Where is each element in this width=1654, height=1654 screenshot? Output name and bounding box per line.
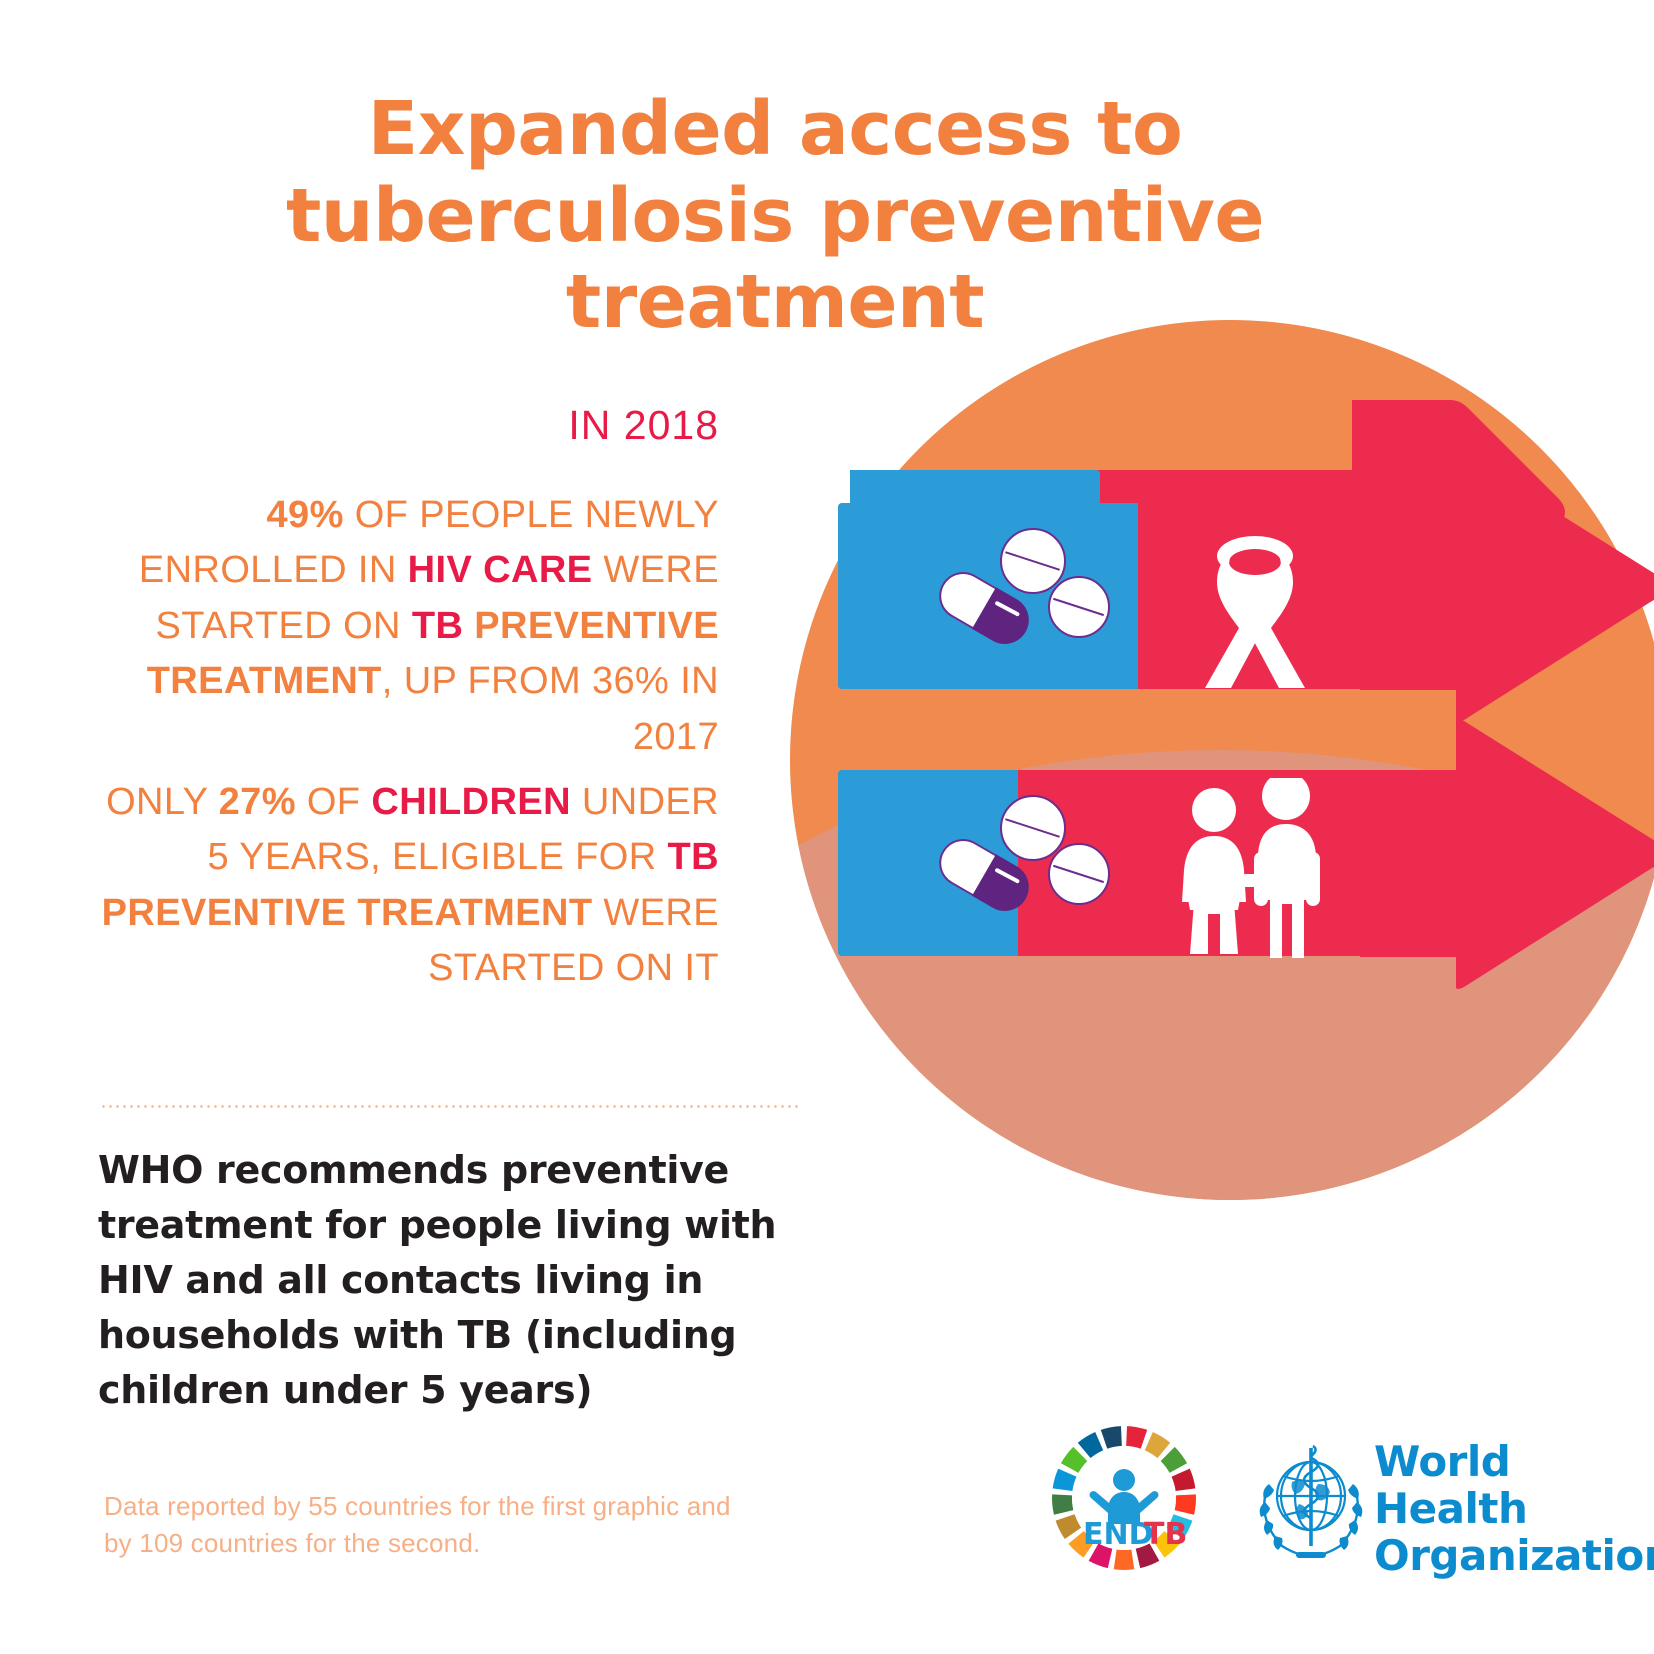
tablet-icon: [1048, 843, 1110, 905]
stat1-percent: 49%: [267, 494, 344, 536]
sdg-wheel-segment: [1171, 1469, 1195, 1491]
arrow2-head: [1360, 719, 1654, 1009]
section-divider: [100, 1105, 800, 1108]
who-logo: World Health Organization: [1252, 1426, 1582, 1566]
children-icon: [1168, 778, 1348, 978]
arrow2-pills-icon: [940, 795, 1110, 935]
sdg-wheel-segment: [1114, 1549, 1135, 1570]
sdg-wheel-segment: [1101, 1426, 1122, 1449]
sdg-wheel-segment: [1175, 1494, 1196, 1514]
stat2-tb: TB: [668, 836, 719, 878]
endtb-tb-text: TB: [1144, 1517, 1187, 1552]
end-tb-logo: END TB: [1038, 1412, 1210, 1584]
sdg-wheel-segment: [1053, 1469, 1077, 1491]
stat2-children: CHILDREN: [371, 781, 571, 823]
children-arrow-body: [838, 770, 1438, 956]
stat-block-children: ONLY 27% OF CHILDREN UNDER 5 YEARS, ELIG…: [79, 775, 719, 997]
year-label: IN 2018: [568, 402, 719, 449]
stat1-text3: , UP FROM 36% IN 2017: [382, 660, 719, 757]
who-emblem-icon: [1252, 1434, 1370, 1564]
stat1-tb: TB: [412, 605, 463, 647]
graphic-panel: [760, 300, 1654, 1310]
stat2-tpt: PREVENTIVE TREATMENT: [102, 892, 593, 934]
endtb-end-text: END: [1083, 1517, 1154, 1552]
who-name-text: World Health Organization: [1374, 1438, 1654, 1579]
stat2-text1: OF: [296, 781, 372, 823]
arrow1-head: [1360, 452, 1654, 742]
stat-block-hiv: 49% OF PEOPLE NEWLY ENROLLED IN HIV CARE…: [59, 488, 719, 765]
who-line2: Organization: [1374, 1532, 1654, 1579]
sdg-wheel-segment: [1126, 1426, 1147, 1449]
arrow1-pills-icon: [940, 528, 1110, 668]
stat2-only: ONLY: [106, 781, 219, 823]
sdg-wheel-segment: [1052, 1494, 1073, 1514]
stat1-hiv-care: HIV CARE: [408, 549, 593, 591]
aids-ribbon-icon: [1175, 510, 1335, 700]
data-source-footnote: Data reported by 55 countries for the fi…: [104, 1488, 754, 1562]
stat2-percent: 27%: [219, 781, 296, 823]
who-line1: World Health: [1374, 1438, 1654, 1532]
tablet-icon: [1048, 576, 1110, 638]
who-recommendation-text: WHO recommends preventive treatment for …: [98, 1143, 828, 1418]
hiv-care-arrow-body: [838, 503, 1438, 689]
